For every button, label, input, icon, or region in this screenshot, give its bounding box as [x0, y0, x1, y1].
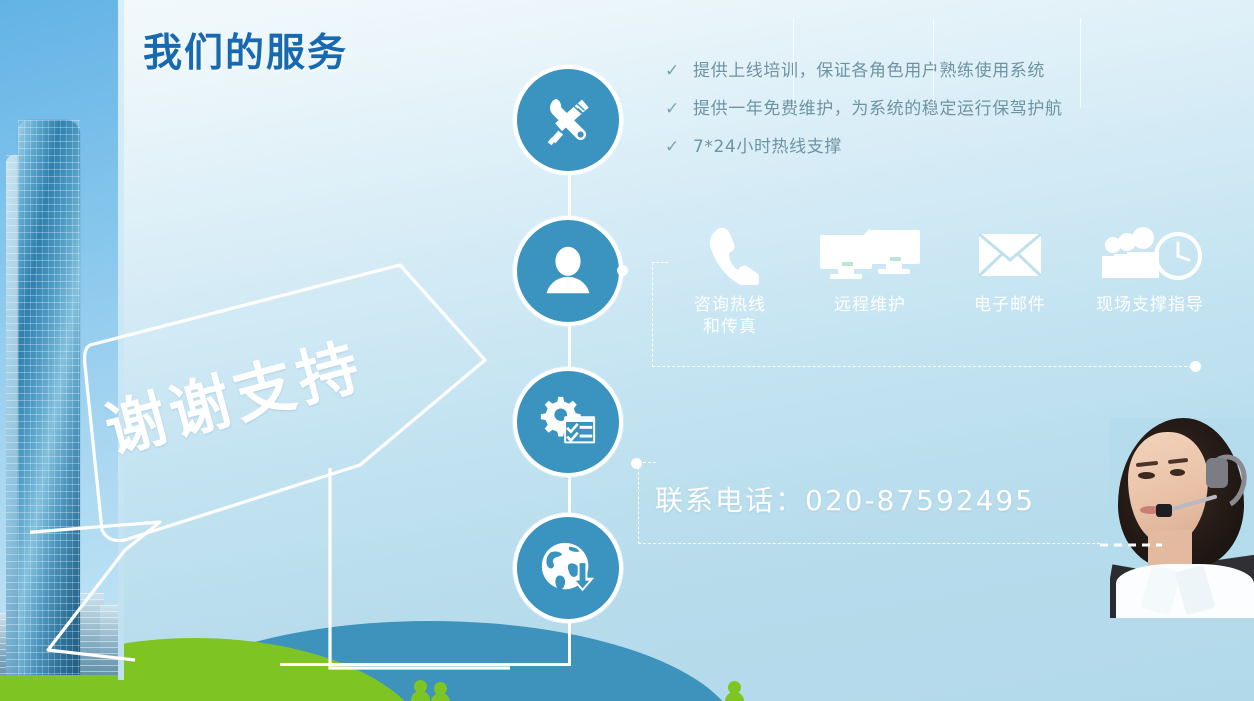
- bullet-text: 提供上线培训，保证各角色用户熟练使用系统: [693, 58, 1045, 84]
- timeline-foot-line: [280, 663, 571, 666]
- service-channel-hotline[interactable]: 咨询热线 和传真: [660, 222, 800, 347]
- timeline-node-deploy[interactable]: [513, 513, 623, 623]
- people-silhouette-body: [725, 692, 744, 701]
- list-item: ✓ 提供一年免费维护，为系统的稳定运行保驾护航: [665, 96, 1125, 122]
- bullet-text: 7*24小时热线支撑: [693, 134, 842, 160]
- service-divider: [933, 18, 934, 108]
- photo-edge-highlight: [118, 0, 124, 680]
- service-label: 远程维护: [834, 294, 906, 316]
- service-label: 现场支撑指导: [1096, 294, 1204, 316]
- headset-mic-tip: [1156, 504, 1172, 517]
- service-channel-email[interactable]: 电子邮件: [940, 222, 1080, 347]
- building-photo: [0, 0, 124, 701]
- service-bullet-list: ✓ 提供上线培训，保证各角色用户熟练使用系统 ✓ 提供一年免费维护，为系统的稳定…: [665, 58, 1125, 172]
- page-title: 我们的服务: [143, 22, 348, 78]
- monitor-icon: [816, 222, 924, 288]
- tower-main: [18, 120, 80, 680]
- check-icon: ✓: [665, 134, 693, 160]
- timeline-node-user[interactable]: [513, 216, 623, 326]
- contact-phone-text: 联系电话：020-87592495: [655, 479, 1035, 519]
- service-channel-row: 咨询热线 和传真: [660, 222, 1220, 347]
- bullet-text: 提供一年免费维护，为系统的稳定运行保驾护航: [693, 96, 1063, 122]
- service-divider: [1080, 18, 1081, 108]
- envelope-icon: [977, 222, 1043, 288]
- connector-dot-services: [617, 265, 628, 276]
- agent-connector-line: [1100, 543, 1162, 547]
- user-icon: [537, 240, 599, 302]
- agent-eye: [1138, 472, 1155, 479]
- headset-earpiece: [1206, 458, 1228, 488]
- people-silhouette-body: [411, 691, 430, 701]
- service-label-line1: 现场支撑指导: [1096, 294, 1204, 316]
- tools-icon: [537, 89, 599, 151]
- globe-download-icon: [537, 537, 599, 599]
- service-channel-onsite[interactable]: 现场支撑指导: [1080, 222, 1220, 347]
- check-icon: ✓: [665, 58, 693, 84]
- service-label-line1: 电子邮件: [974, 294, 1046, 316]
- timeline-node-process[interactable]: [513, 367, 623, 477]
- thank-you-text: 谢谢支持: [94, 299, 436, 470]
- phone-icon: [701, 222, 759, 288]
- service-label-line1: 咨询热线: [694, 294, 766, 316]
- gear-checklist-icon: [537, 391, 599, 453]
- agent-eye: [1170, 469, 1185, 476]
- service-label-line2: 和传真: [694, 316, 766, 338]
- list-item: ✓ 7*24小时热线支撑: [665, 134, 1125, 160]
- slide-canvas: 谢谢支持 我们的服务 ✓ 提供上线培训，保证各角色用户熟练使用系统 ✓ 提供一年…: [0, 0, 1254, 701]
- service-label: 电子邮件: [974, 294, 1046, 316]
- service-label: 咨询热线 和传真: [694, 294, 766, 338]
- service-label-line1: 远程维护: [834, 294, 906, 316]
- support-agent-photo: [1110, 418, 1254, 618]
- contact-dashed-frame-top: [638, 462, 656, 463]
- people-clock-icon: [1097, 222, 1203, 288]
- service-divider: [793, 18, 794, 108]
- list-item: ✓ 提供上线培训，保证各角色用户熟练使用系统: [665, 58, 1125, 84]
- service-channel-remote[interactable]: 远程维护: [800, 222, 940, 347]
- photo-grass: [0, 675, 124, 701]
- timeline-node-tools[interactable]: [513, 65, 623, 175]
- check-icon: ✓: [665, 96, 693, 122]
